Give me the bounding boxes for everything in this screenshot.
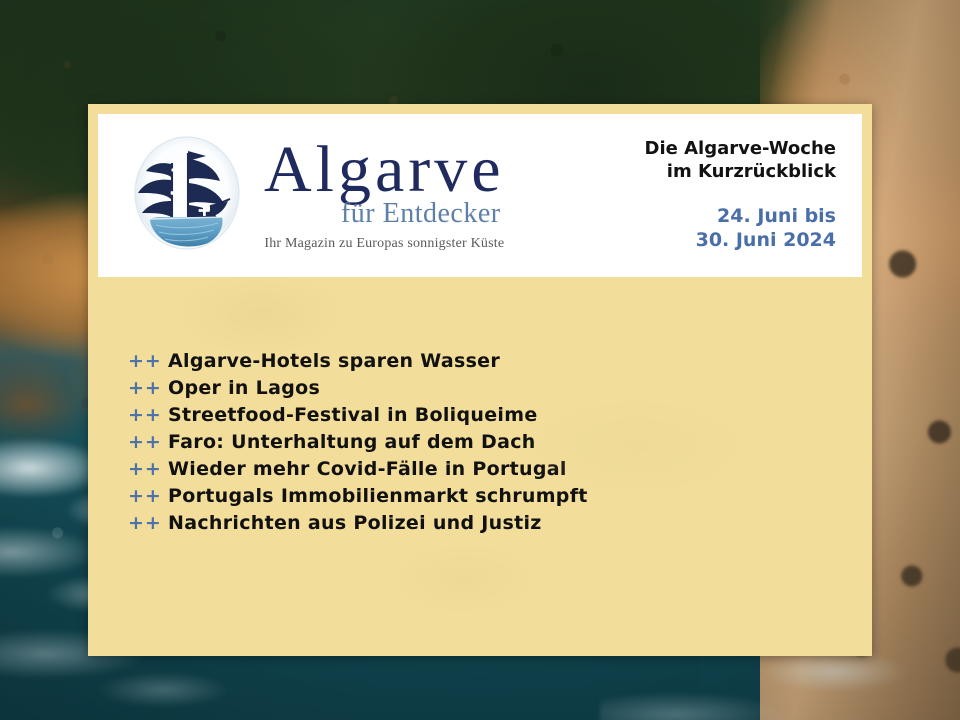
- header-meta-block: Die Algarve-Woche im Kurzrückblick 24. J…: [645, 138, 862, 253]
- headline-text: Faro: Unterhaltung auf dem Dach: [168, 431, 536, 453]
- issue-date-line1: 24. Juni bis: [645, 205, 836, 229]
- plus-plus-marker: ++: [128, 377, 168, 399]
- brand-lockup: Algarve für Entdecker Ihr Magazin zu Eur…: [98, 133, 505, 259]
- plus-plus-marker: ++: [128, 404, 168, 426]
- list-item: ++ Nachrichten aus Polizei und Justiz: [128, 512, 852, 539]
- issue-date-range: 24. Juni bis 30. Juni 2024: [645, 205, 836, 253]
- headline-text: Oper in Lagos: [168, 377, 320, 399]
- headline-text: Streetfood-Festival in Boliqueime: [168, 404, 538, 426]
- list-item: ++ Algarve-Hotels sparen Wasser: [128, 350, 852, 377]
- card-header-band: Algarve für Entdecker Ihr Magazin zu Eur…: [98, 114, 862, 277]
- newsletter-card: Algarve für Entdecker Ihr Magazin zu Eur…: [88, 104, 872, 656]
- plus-plus-marker: ++: [128, 458, 168, 480]
- plus-plus-marker: ++: [128, 512, 168, 534]
- list-item: ++ Streetfood-Festival in Boliqueime: [128, 404, 852, 431]
- brand-subword: für Entdecker: [341, 198, 505, 230]
- plus-plus-marker: ++: [128, 431, 168, 453]
- headline-list: ++ Algarve-Hotels sparen Wasser ++ Oper …: [128, 350, 852, 539]
- list-item: ++ Faro: Unterhaltung auf dem Dach: [128, 431, 852, 458]
- brand-tagline: Ihr Magazin zu Europas sonnigster Küste: [264, 236, 504, 252]
- newsletter-teaser-image: Algarve für Entdecker Ihr Magazin zu Eur…: [0, 0, 960, 720]
- list-item: ++ Wieder mehr Covid-Fälle in Portugal: [128, 458, 852, 485]
- list-item: ++ Oper in Lagos: [128, 377, 852, 404]
- sailing-ship-icon: [124, 133, 250, 259]
- list-item: ++ Portugals Immobilienmarkt schrumpft: [128, 485, 852, 512]
- issue-title: Die Algarve-Woche im Kurzrückblick: [645, 138, 836, 183]
- headline-text: Wieder mehr Covid-Fälle in Portugal: [168, 458, 567, 480]
- issue-title-line1: Die Algarve-Woche: [645, 138, 836, 161]
- headline-text: Algarve-Hotels sparen Wasser: [168, 350, 500, 372]
- brand-wordmark: Algarve: [264, 139, 505, 202]
- brand-type-block: Algarve für Entdecker Ihr Magazin zu Eur…: [264, 139, 505, 252]
- plus-plus-marker: ++: [128, 350, 168, 372]
- headline-text: Portugals Immobilienmarkt schrumpft: [168, 485, 588, 507]
- issue-title-line2: im Kurzrückblick: [645, 161, 836, 184]
- plus-plus-marker: ++: [128, 485, 168, 507]
- issue-date-line2: 30. Juni 2024: [645, 229, 836, 253]
- headline-text: Nachrichten aus Polizei und Justiz: [168, 512, 542, 534]
